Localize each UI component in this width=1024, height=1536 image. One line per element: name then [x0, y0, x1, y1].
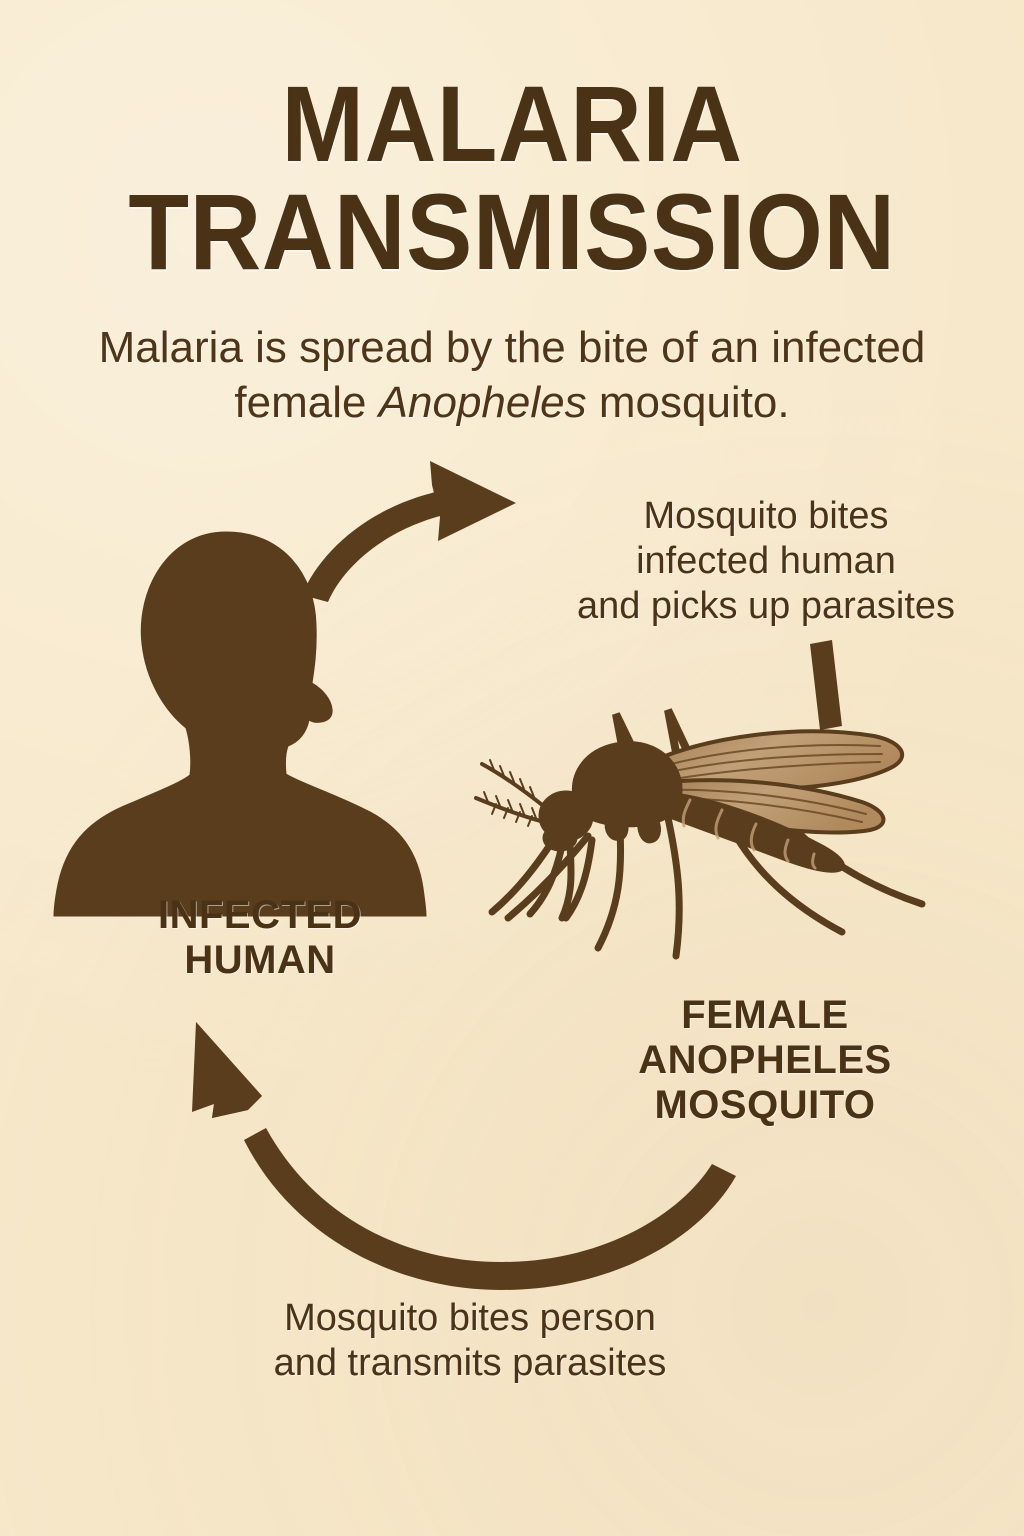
- female-anopheles-mosquito-figure: [470, 680, 990, 1010]
- label-infected-human: INFECTED HUMAN: [60, 893, 460, 983]
- caption-step-1-line-1: Mosquito bites: [556, 494, 976, 539]
- subtitle-text-after: mosquito.: [587, 378, 790, 427]
- page-subtitle: Malaria is spread by the bite of an infe…: [90, 320, 934, 430]
- caption-step-1-line-3: and picks up parasites: [556, 584, 976, 629]
- mosquito-illustration-icon: [470, 680, 990, 1010]
- malaria-transmission-infographic: MALARIA TRANSMISSION Malaria is spread b…: [0, 0, 1024, 1536]
- curved-arrow-up-icon: [140, 1000, 780, 1300]
- caption-step-1: Mosquito bites infected human and picks …: [556, 494, 976, 628]
- page-title-line-1: MALARIA: [41, 72, 983, 176]
- caption-step-2-line-1: Mosquito bites person: [200, 1296, 740, 1341]
- page-title-line-2: TRANSMISSION: [41, 180, 983, 284]
- caption-step-1-line-2: infected human: [556, 539, 976, 584]
- caption-step-2: Mosquito bites person and transmits para…: [200, 1296, 740, 1386]
- caption-step-2-line-2: and transmits parasites: [200, 1341, 740, 1386]
- arrow-mosquito-to-human: [140, 1000, 780, 1300]
- label-infected-human-line-1: INFECTED: [60, 893, 460, 938]
- label-infected-human-line-2: HUMAN: [60, 938, 460, 983]
- subtitle-species-name: Anopheles: [379, 378, 587, 427]
